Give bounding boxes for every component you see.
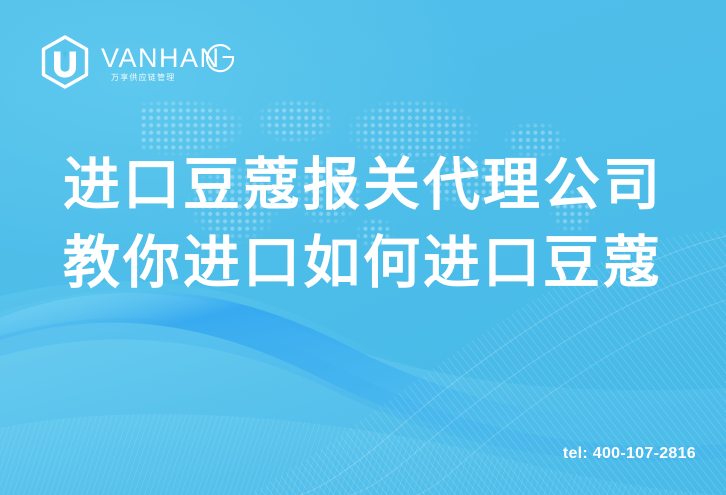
brand-wordmark: VANHAN	[101, 45, 221, 72]
promo-banner: VANHAN 万享供应链管理 进口豆蔻报关代理公司 教你进口如何进口豆蔻 tel…	[0, 0, 726, 495]
contact-phone[interactable]: tel: 400-107-2816	[563, 445, 696, 463]
brand-wordmark-group: VANHAN 万享供应链管理	[101, 43, 221, 82]
brand-logo[interactable]: VANHAN 万享供应链管理	[38, 34, 221, 90]
brand-subtitle: 万享供应链管理	[111, 74, 221, 82]
vanhang-hexagon-icon	[38, 34, 92, 90]
